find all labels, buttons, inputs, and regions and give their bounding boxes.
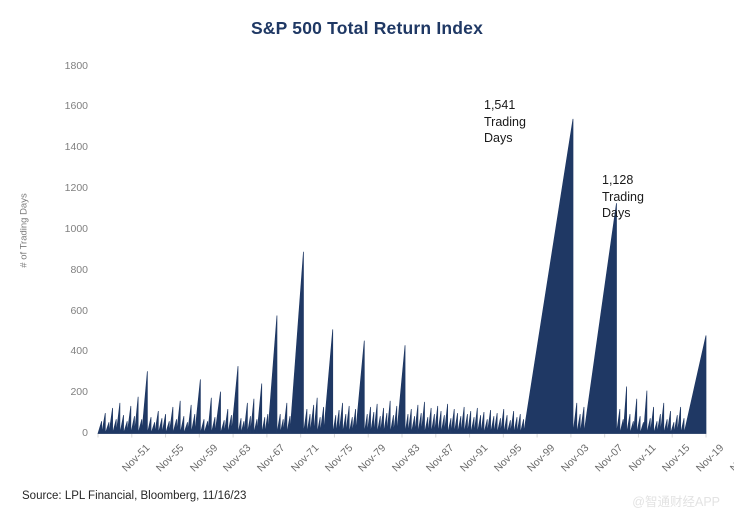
watermark: @智通财经APP <box>632 491 720 510</box>
x-axis-ticks <box>98 434 706 438</box>
axis-lines <box>98 434 706 438</box>
annotation-line: Days <box>484 130 526 147</box>
source-note: Source: LPL Financial, Bloomberg, 11/16/… <box>22 490 246 502</box>
annotation-line: 1,541 <box>484 97 526 114</box>
annotation-line: Trading <box>602 189 644 206</box>
chart-figure: S&P 500 Total Return Index # of Trading … <box>0 0 734 517</box>
annotation-peak-1541: 1,541TradingDays <box>484 97 526 147</box>
annotation-peak-1128: 1,128TradingDays <box>602 172 644 222</box>
plot-area <box>0 0 734 517</box>
annotation-line: Trading <box>484 114 526 131</box>
annotation-line: Days <box>602 205 644 222</box>
trading-days-series <box>98 119 706 434</box>
annotation-line: 1,128 <box>602 172 644 189</box>
